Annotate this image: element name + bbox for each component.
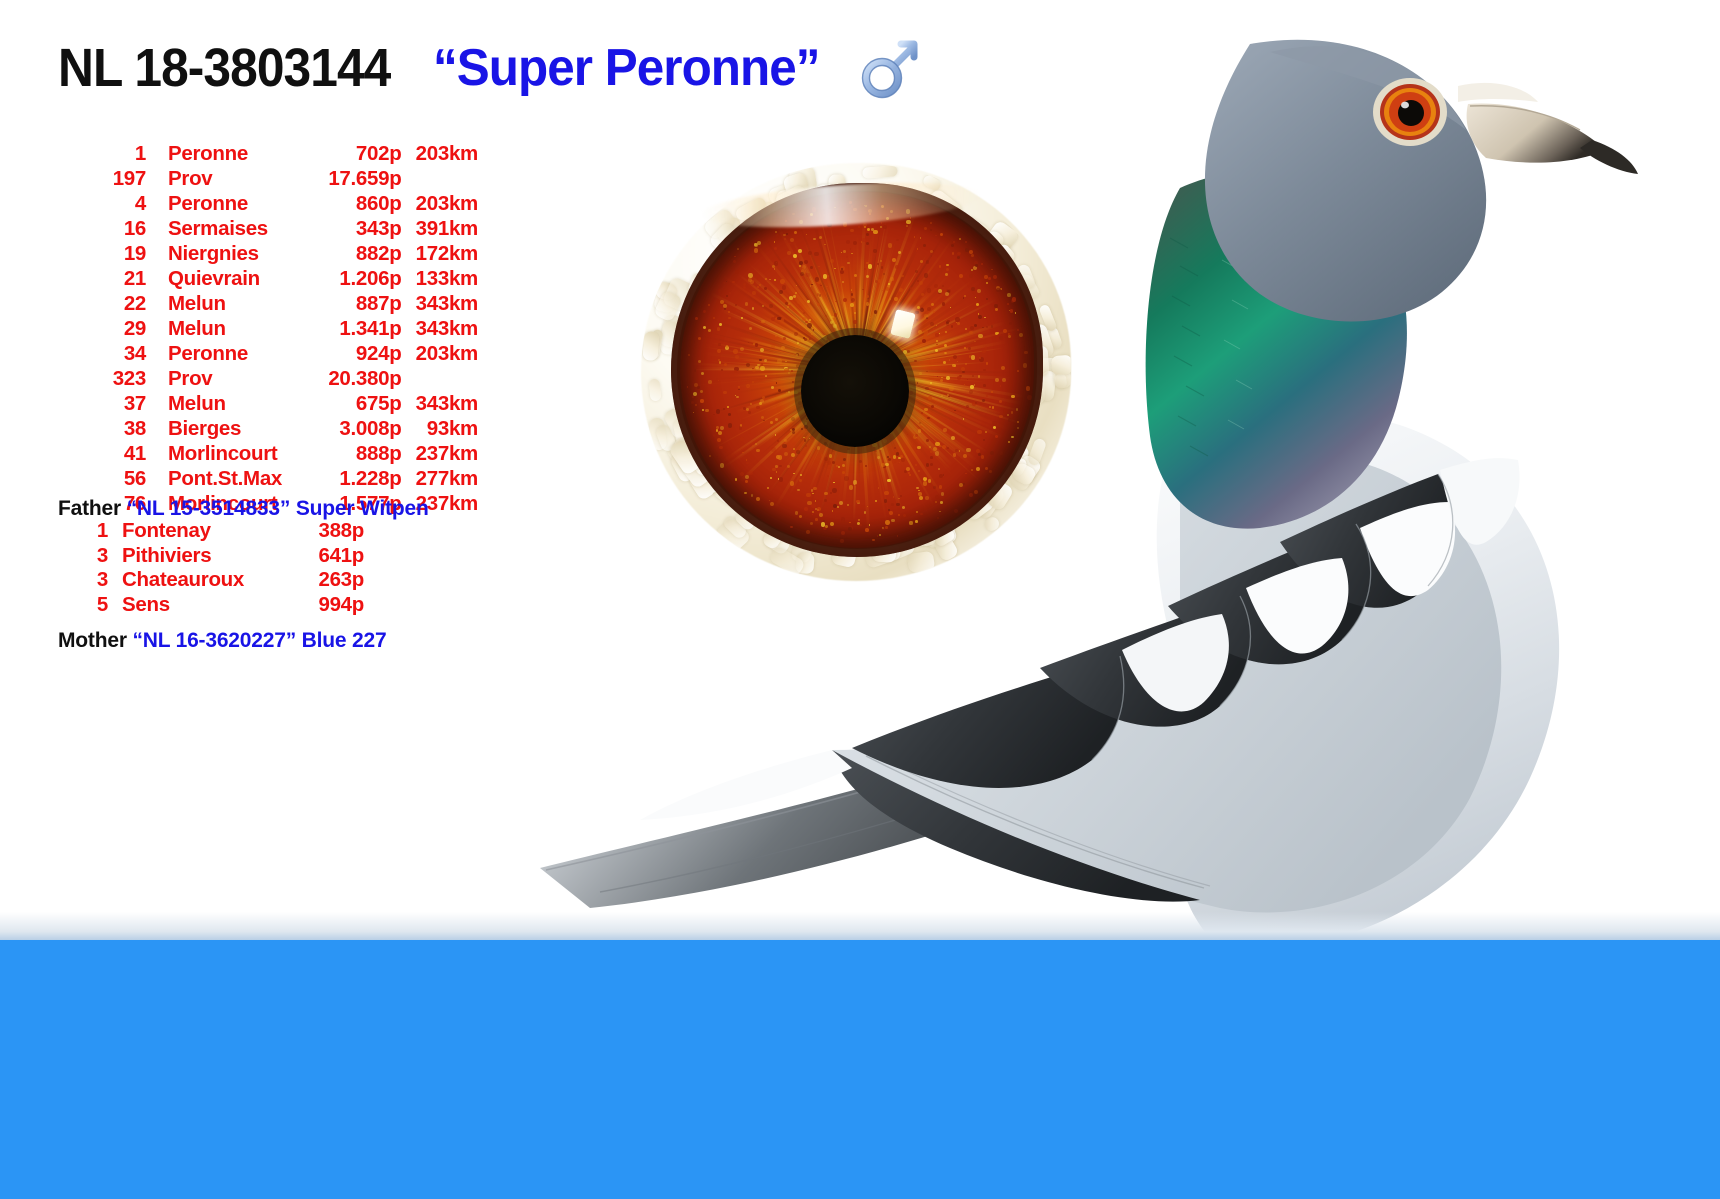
- table-row: 56Pont.St.Max1.228p277km: [58, 467, 478, 492]
- result-race: Peronne: [146, 142, 306, 166]
- result-rank: 16: [58, 217, 146, 241]
- result-distance: 203km: [401, 342, 478, 366]
- father-result-rank: 3: [58, 568, 108, 592]
- result-rank: 56: [58, 467, 146, 491]
- result-rank: 41: [58, 442, 146, 466]
- result-rank: 197: [58, 167, 146, 191]
- result-birds: 924p: [306, 342, 402, 366]
- result-rank: 19: [58, 242, 146, 266]
- result-distance: 343km: [401, 292, 478, 316]
- father-result-birds: 641p: [282, 544, 364, 568]
- result-birds: 3.008p: [306, 417, 402, 441]
- race-results-table: 1Peronne702p203km197Prov17.659p4Peronne8…: [58, 142, 478, 517]
- father-result-birds: 388p: [282, 519, 364, 543]
- father-result-birds: 263p: [282, 568, 364, 592]
- table-row: 1Peronne702p203km: [58, 142, 478, 167]
- result-birds: 343p: [306, 217, 402, 241]
- result-distance: 237km: [401, 442, 478, 466]
- result-race: Quievrain: [146, 267, 306, 291]
- result-distance: 343km: [401, 392, 478, 416]
- table-row: 29Melun1.341p343km: [58, 317, 478, 342]
- father-name: Super Witpen: [296, 497, 429, 520]
- result-birds: 888p: [306, 442, 402, 466]
- table-row: 21Quievrain1.206p133km: [58, 267, 478, 292]
- result-birds: 860p: [306, 192, 402, 216]
- father-results-table: 1Fontenay388p3Pithiviers641p3Chateauroux…: [58, 519, 418, 617]
- result-rank: 34: [58, 342, 146, 366]
- father-result-rank: 5: [58, 593, 108, 617]
- result-provincial-label: Prov: [146, 167, 306, 191]
- footer-bar: Herbots www.herbots.com Original J.L.M. …: [0, 940, 1720, 1199]
- result-birds: 702p: [306, 142, 402, 166]
- result-race: Melun: [146, 317, 306, 341]
- result-birds: 887p: [306, 292, 402, 316]
- table-row: 3Pithiviers641p: [58, 544, 418, 569]
- result-birds: 1.228p: [306, 467, 402, 491]
- father-result-birds: 994p: [282, 593, 364, 617]
- result-rank: 4: [58, 192, 146, 216]
- mother-label: Mother: [58, 629, 127, 652]
- result-birds: 1.206p: [306, 267, 402, 291]
- mother-heading: Mother “NL 16-3620227” Blue 227: [58, 629, 386, 653]
- result-rank: 323: [58, 367, 146, 391]
- table-row: 323Prov20.380p: [58, 367, 478, 392]
- table-row: 3Chateauroux263p: [58, 568, 418, 593]
- result-distance: 133km: [401, 267, 478, 291]
- father-ring-number: “NL 15-3514833”: [127, 497, 291, 520]
- table-row: 16Sermaises343p391km: [58, 217, 478, 242]
- pedigree-card: NL 18-3803144 “Super Peronne”: [0, 0, 1720, 1199]
- pigeon-eye: [1373, 78, 1447, 146]
- father-result-race: Chateauroux: [108, 568, 282, 592]
- table-row: 37Melun675p343km: [58, 392, 478, 417]
- table-row: 4Peronne860p203km: [58, 192, 478, 217]
- result-rank: 29: [58, 317, 146, 341]
- table-row: 22Melun887p343km: [58, 292, 478, 317]
- father-result-rank: 1: [58, 519, 108, 543]
- result-birds: 20.380p: [306, 367, 402, 391]
- result-distance: 203km: [401, 142, 478, 166]
- result-birds: 675p: [306, 392, 402, 416]
- result-race: Peronne: [146, 192, 306, 216]
- table-row: 1Fontenay388p: [58, 519, 418, 544]
- result-race: Pont.St.Max: [146, 467, 306, 491]
- father-heading: Father “NL 15-3514833” Super Witpen: [58, 497, 429, 521]
- table-row: 41Morlincourt888p237km: [58, 442, 478, 467]
- pigeon-beak: [1467, 103, 1638, 174]
- result-rank: 21: [58, 267, 146, 291]
- result-race: Melun: [146, 292, 306, 316]
- result-provincial-label: Prov: [146, 367, 306, 391]
- result-rank: 22: [58, 292, 146, 316]
- father-result-race: Pithiviers: [108, 544, 282, 568]
- result-race: Niergnies: [146, 242, 306, 266]
- table-row: 197Prov17.659p: [58, 167, 478, 192]
- result-birds: 882p: [306, 242, 402, 266]
- father-result-race: Sens: [108, 593, 282, 617]
- result-distance: 343km: [401, 317, 478, 341]
- result-race: Sermaises: [146, 217, 306, 241]
- table-row: 34Peronne924p203km: [58, 342, 478, 367]
- pigeon-ring-number: NL 18-3803144: [58, 37, 390, 99]
- result-race: Peronne: [146, 342, 306, 366]
- table-row: 5Sens994p: [58, 593, 418, 618]
- result-distance: 203km: [401, 192, 478, 216]
- table-row: 19Niergnies882p172km: [58, 242, 478, 267]
- father-result-rank: 3: [58, 544, 108, 568]
- father-label: Father: [58, 497, 121, 520]
- result-race: Morlincourt: [146, 442, 306, 466]
- result-race: Bierges: [146, 417, 306, 441]
- result-birds: 1.341p: [306, 317, 402, 341]
- result-rank: 38: [58, 417, 146, 441]
- result-birds: 17.659p: [306, 167, 402, 191]
- result-rank: 1: [58, 142, 146, 166]
- mother-name: Blue 227: [302, 629, 387, 652]
- footer-gradient: [0, 912, 1720, 940]
- result-rank: 37: [58, 392, 146, 416]
- result-distance: 172km: [401, 242, 478, 266]
- result-distance: 93km: [401, 417, 478, 441]
- result-distance: 391km: [401, 217, 478, 241]
- pigeon-head: [1205, 40, 1638, 322]
- result-distance: 277km: [401, 467, 478, 491]
- father-result-race: Fontenay: [108, 519, 282, 543]
- table-row: 38Bierges3.008p93km: [58, 417, 478, 442]
- result-race: Melun: [146, 392, 306, 416]
- mother-ring-number: “NL 16-3620227”: [132, 629, 296, 652]
